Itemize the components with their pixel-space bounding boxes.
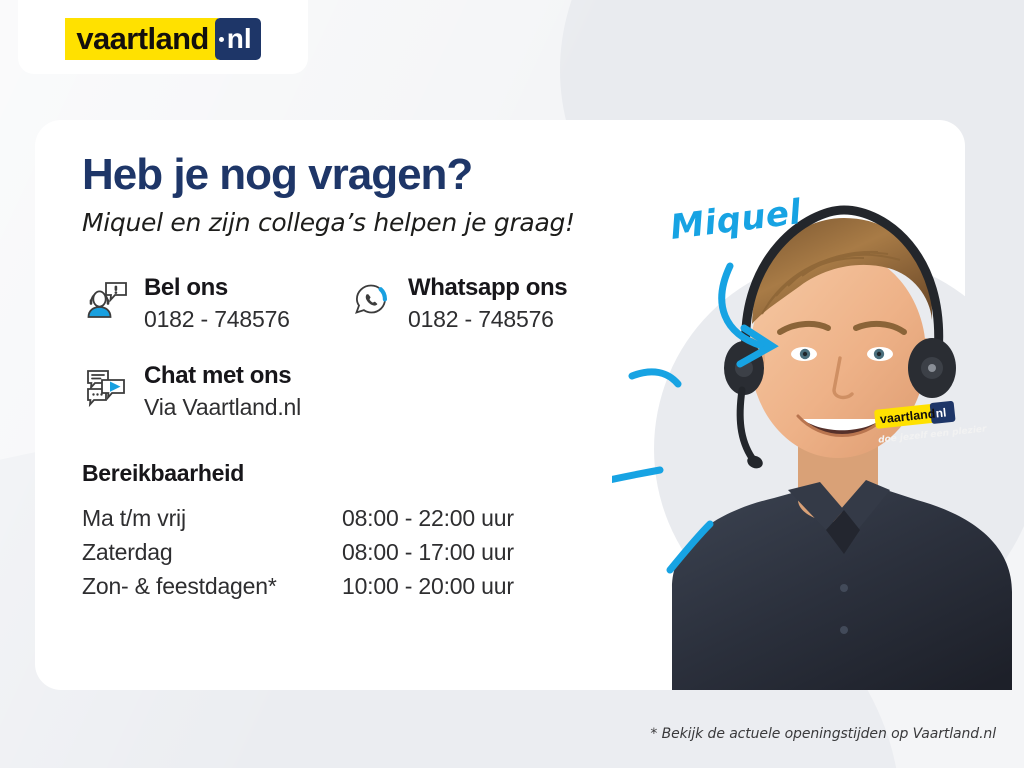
contact-call-text: Bel ons 0182 - 748576 (144, 273, 290, 333)
table-row: Zon- & feestdagen* 10:00 - 20:00 uur (82, 569, 642, 603)
page-title: Heb je nog vragen? (82, 152, 642, 198)
contact-chat-text: Chat met ons Via Vaartland.nl (144, 361, 301, 421)
agent-portrait: vaartland nl doe jezelf een plezier (612, 118, 1024, 690)
contact-methods-group: Bel ons 0182 - 748576 Whatsapp ons 0182 … (82, 273, 642, 438)
whatsapp-icon (346, 275, 394, 323)
logo-lockup: vaartland nl (65, 18, 260, 60)
chat-bubbles-icon (82, 363, 130, 411)
svg-text:nl: nl (935, 405, 947, 420)
headset-person-icon (82, 275, 130, 323)
brand-logo-card[interactable]: vaartland nl (18, 0, 308, 74)
page-subtitle: Miquel en zijn collega’s helpen je graag… (82, 208, 642, 237)
contact-whatsapp-title: Whatsapp ons (408, 274, 567, 301)
contact-chat-title: Chat met ons (144, 362, 291, 389)
contact-call-value: 0182 - 748576 (144, 306, 290, 333)
contact-whatsapp-value: 0182 - 748576 (408, 306, 567, 333)
hours-time: 10:00 - 20:00 uur (342, 569, 582, 603)
hours-day: Ma t/m vrij (82, 501, 342, 535)
hours-day: Zaterdag (82, 535, 342, 569)
contact-chat-value: Via Vaartland.nl (144, 394, 301, 421)
logo-tld-text: nl (227, 18, 252, 60)
table-row: Zaterdag 08:00 - 17:00 uur (82, 535, 642, 569)
contact-method-whatsapp[interactable]: Whatsapp ons 0182 - 748576 (346, 273, 567, 333)
hours-time: 08:00 - 17:00 uur (342, 535, 582, 569)
hours-time: 08:00 - 22:00 uur (342, 501, 582, 535)
contact-whatsapp-text: Whatsapp ons 0182 - 748576 (408, 273, 567, 333)
logo-dot-icon (219, 37, 224, 42)
footnote-text: * Bekijk de actuele openingstijden op Va… (650, 726, 996, 742)
contact-method-chat[interactable]: Chat met ons Via Vaartland.nl (82, 361, 301, 421)
agent-photo-illustration: vaartland nl doe jezelf een plezier (612, 118, 1024, 690)
opening-hours-title: Bereikbaarheid (82, 460, 642, 487)
table-row: Ma t/m vrij 08:00 - 22:00 uur (82, 501, 642, 535)
hours-day: Zon- & feestdagen* (82, 569, 342, 603)
logo-wordmark: vaartland (65, 18, 217, 60)
opening-hours-block: Bereikbaarheid Ma t/m vrij 08:00 - 22:00… (82, 460, 642, 603)
contact-call-title: Bel ons (144, 274, 228, 301)
logo-tld-badge: nl (215, 18, 261, 60)
contact-method-call[interactable]: Bel ons 0182 - 748576 (82, 273, 290, 333)
content-column: Heb je nog vragen? Miquel en zijn colleg… (82, 152, 642, 603)
